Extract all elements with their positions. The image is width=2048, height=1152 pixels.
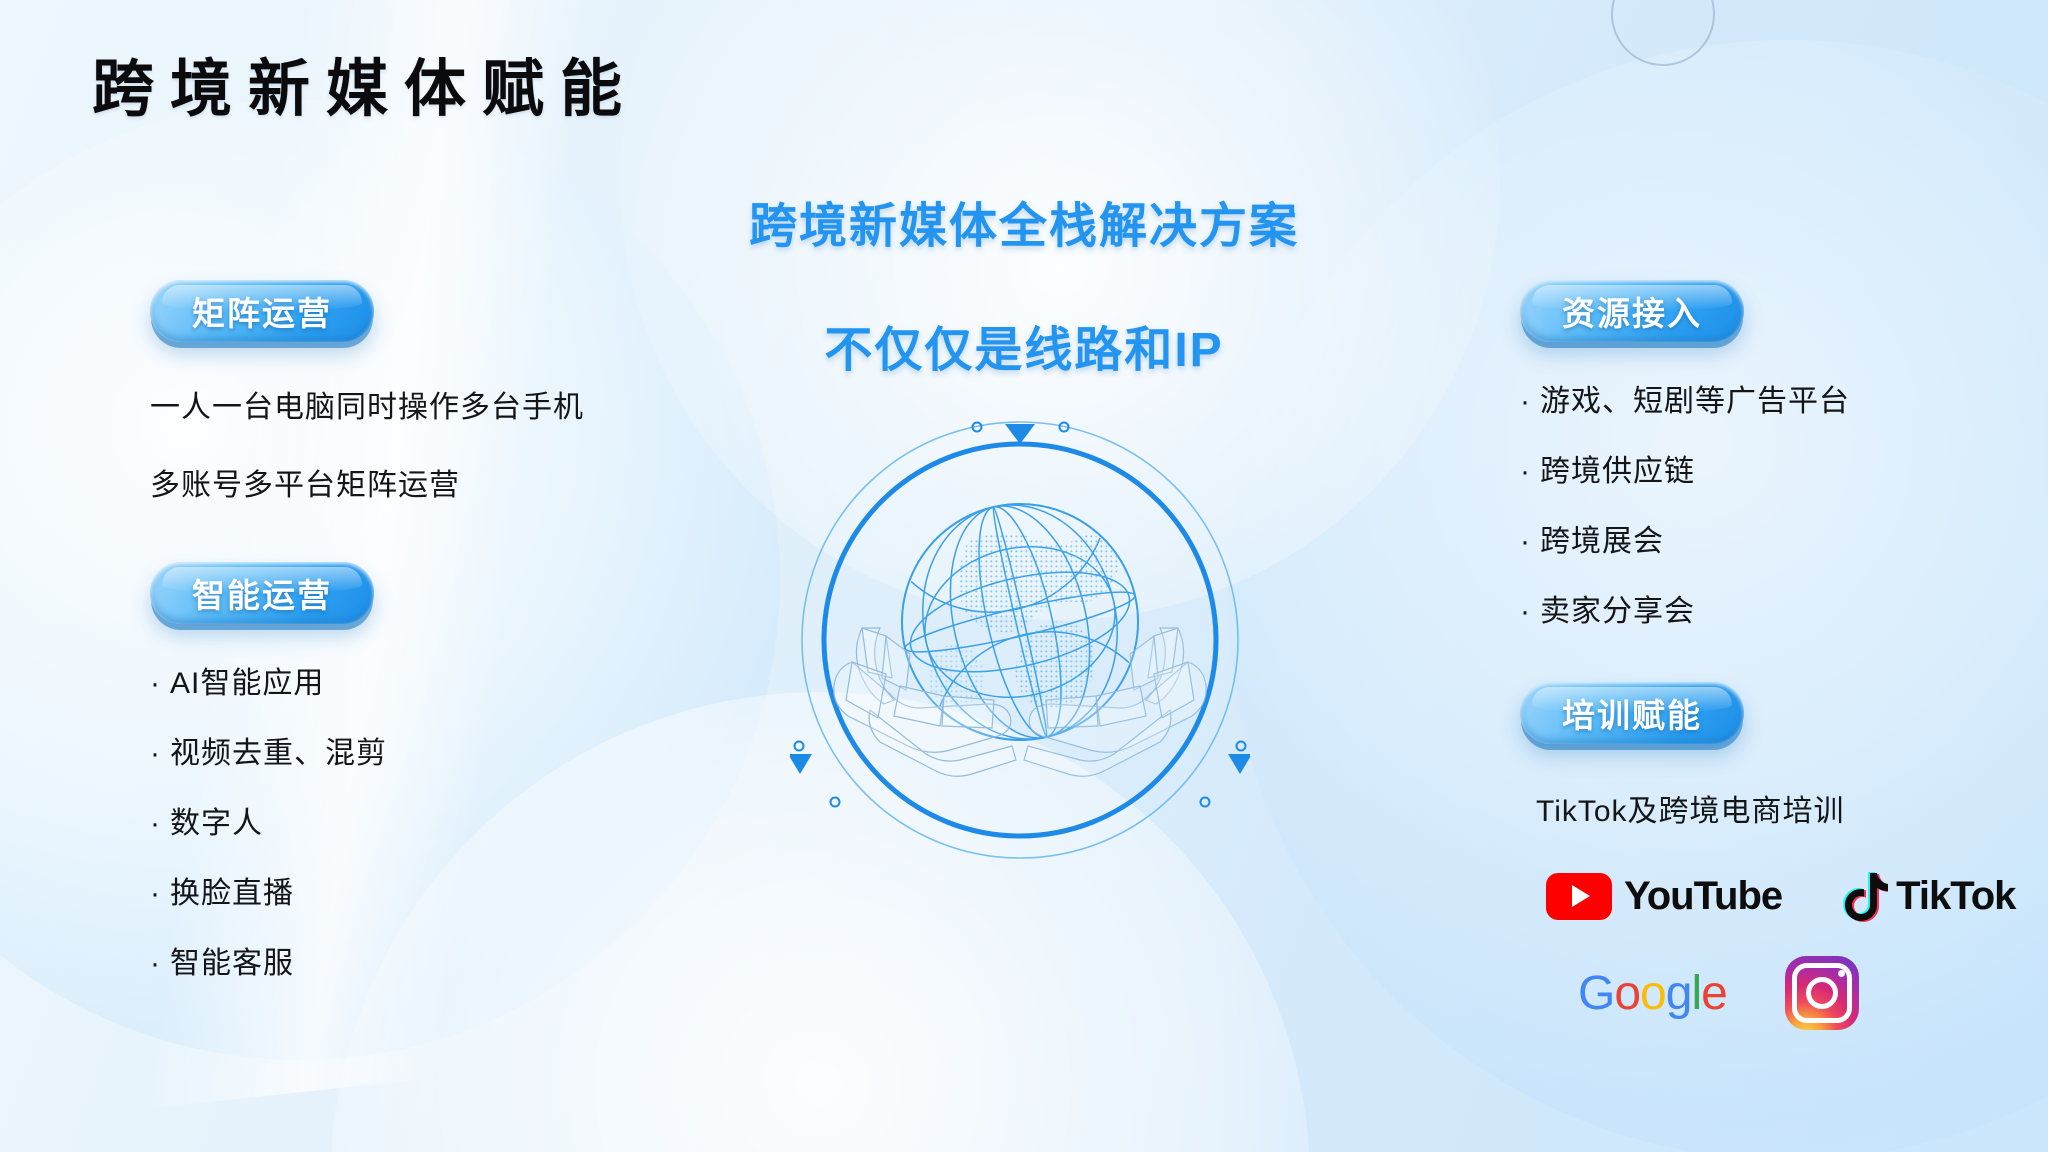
decorative-circle-icon xyxy=(1611,0,1715,66)
pill-label: 智能运营 xyxy=(192,569,332,617)
spacer xyxy=(150,504,770,562)
training-description: TikTok及跨境电商培训 xyxy=(1536,786,2048,830)
bullet-dot-icon: · xyxy=(150,949,170,979)
globe-in-hands-illustration xyxy=(790,410,1250,870)
tiktok-wordmark: TikTok xyxy=(1896,874,2015,919)
pill-smart-operation[interactable]: 智能运营 xyxy=(150,562,374,624)
bullet-dot-icon: · xyxy=(1520,387,1540,417)
slide-root: 跨境新媒体赋能 跨境新媒体全栈解决方案 不仅仅是线路和IP xyxy=(0,0,2048,1152)
list-item: · 跨境展会 xyxy=(1520,516,2048,560)
google-letter-e: e xyxy=(1701,967,1727,1020)
pill-training-empowerment[interactable]: 培训赋能 xyxy=(1520,682,1744,744)
list-item: · 换脸直播 xyxy=(150,868,770,912)
instagram-flash-dot-icon xyxy=(1838,970,1845,977)
list-item-label: 跨境供应链 xyxy=(1540,446,1695,490)
pill-label: 资源接入 xyxy=(1562,287,1702,335)
google-letter-l: l xyxy=(1691,967,1701,1020)
logo-row-top: YouTube TikTok xyxy=(1546,870,2048,922)
pill-resource-access[interactable]: 资源接入 xyxy=(1520,280,1744,342)
pill-label: 矩阵运营 xyxy=(192,287,332,335)
bullet-dot-icon: · xyxy=(150,809,170,839)
left-column: 矩阵运营 一人一台电脑同时操作多台手机 多账号多平台矩阵运营 智能运营 · AI… xyxy=(150,280,770,1008)
google-letter-g2: g xyxy=(1666,967,1692,1020)
list-item-label: 跨境展会 xyxy=(1540,516,1664,560)
list-item: · 跨境供应链 xyxy=(1520,446,2048,490)
youtube-play-icon xyxy=(1546,873,1612,920)
list-item-label: 视频去重、混剪 xyxy=(170,728,387,772)
list-item-label: 卖家分享会 xyxy=(1540,586,1695,630)
google-letter-o2: o xyxy=(1640,967,1666,1020)
right-column: 资源接入 · 游戏、短剧等广告平台 · 跨境供应链 · 跨境展会 · 卖家分享会… xyxy=(1520,280,2048,1030)
google-letter-o1: o xyxy=(1614,967,1640,1020)
youtube-logo[interactable]: YouTube xyxy=(1546,873,1782,920)
page-title: 跨境新媒体赋能 xyxy=(92,38,638,128)
list-item: · 数字人 xyxy=(150,798,770,842)
tiktok-note-icon xyxy=(1842,870,1888,922)
list-item-label: 智能客服 xyxy=(170,938,294,982)
list-item: · 卖家分享会 xyxy=(1520,586,2048,630)
list-item-label: AI智能应用 xyxy=(170,658,324,702)
right-bullet-list: · 游戏、短剧等广告平台 · 跨境供应链 · 跨境展会 · 卖家分享会 xyxy=(1520,376,2048,630)
pill-label: 培训赋能 xyxy=(1562,689,1702,737)
center-heading-primary: 跨境新媒体全栈解决方案 xyxy=(0,186,2048,256)
left-text-line-2: 多账号多平台矩阵运营 xyxy=(150,460,770,504)
list-item: · AI智能应用 xyxy=(150,658,770,702)
google-logo[interactable]: Google xyxy=(1578,966,1727,1021)
logo-row-bottom: Google xyxy=(1578,956,2048,1030)
pill-matrix-operation[interactable]: 矩阵运营 xyxy=(150,280,374,342)
list-item: · 游戏、短剧等广告平台 xyxy=(1520,376,2048,420)
left-bullet-list: · AI智能应用 · 视频去重、混剪 · 数字人 · 换脸直播 · 智能客服 xyxy=(150,658,770,982)
bullet-dot-icon: · xyxy=(150,739,170,769)
list-item-label: 数字人 xyxy=(170,798,263,842)
google-letter-g1: G xyxy=(1578,967,1614,1020)
bullet-dot-icon: · xyxy=(1520,597,1540,627)
list-item: · 视频去重、混剪 xyxy=(150,728,770,772)
instagram-logo[interactable] xyxy=(1785,956,1859,1030)
left-text-line-1: 一人一台电脑同时操作多台手机 xyxy=(150,382,770,426)
tiktok-logo[interactable]: TikTok xyxy=(1842,870,2015,922)
bullet-dot-icon: · xyxy=(150,879,170,909)
list-item: · 智能客服 xyxy=(150,938,770,982)
youtube-wordmark: YouTube xyxy=(1624,874,1782,919)
list-item-label: 游戏、短剧等广告平台 xyxy=(1540,376,1850,420)
bullet-dot-icon: · xyxy=(150,669,170,699)
list-item-label: 换脸直播 xyxy=(170,868,294,912)
bullet-dot-icon: · xyxy=(1520,457,1540,487)
bullet-dot-icon: · xyxy=(1520,527,1540,557)
